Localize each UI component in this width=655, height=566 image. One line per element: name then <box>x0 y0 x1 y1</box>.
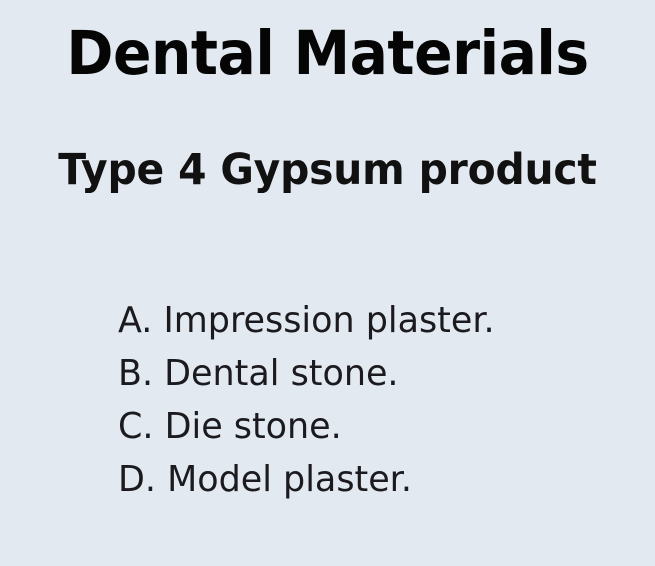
option-letter: D. <box>118 459 156 500</box>
option-label: Model plaster. <box>167 459 412 500</box>
option-letter: B. <box>118 353 153 394</box>
answer-options-list: A. Impression plaster. B. Dental stone. … <box>118 294 506 506</box>
list-item[interactable]: C. Die stone. <box>118 400 495 453</box>
question-text: Type 4 Gypsum product <box>16 144 638 198</box>
option-label: Dental stone. <box>164 353 398 394</box>
list-item[interactable]: D. Model plaster. <box>118 453 495 506</box>
option-label: Impression plaster. <box>163 300 494 341</box>
quiz-slide: Dental Materials Type 4 Gypsum product A… <box>0 0 655 566</box>
page-title: Dental Materials <box>23 16 632 92</box>
option-letter: C. <box>118 406 153 447</box>
option-letter: A. <box>118 300 152 341</box>
option-label: Die stone. <box>165 406 342 447</box>
list-item[interactable]: B. Dental stone. <box>118 347 495 400</box>
list-item[interactable]: A. Impression plaster. <box>118 294 495 347</box>
